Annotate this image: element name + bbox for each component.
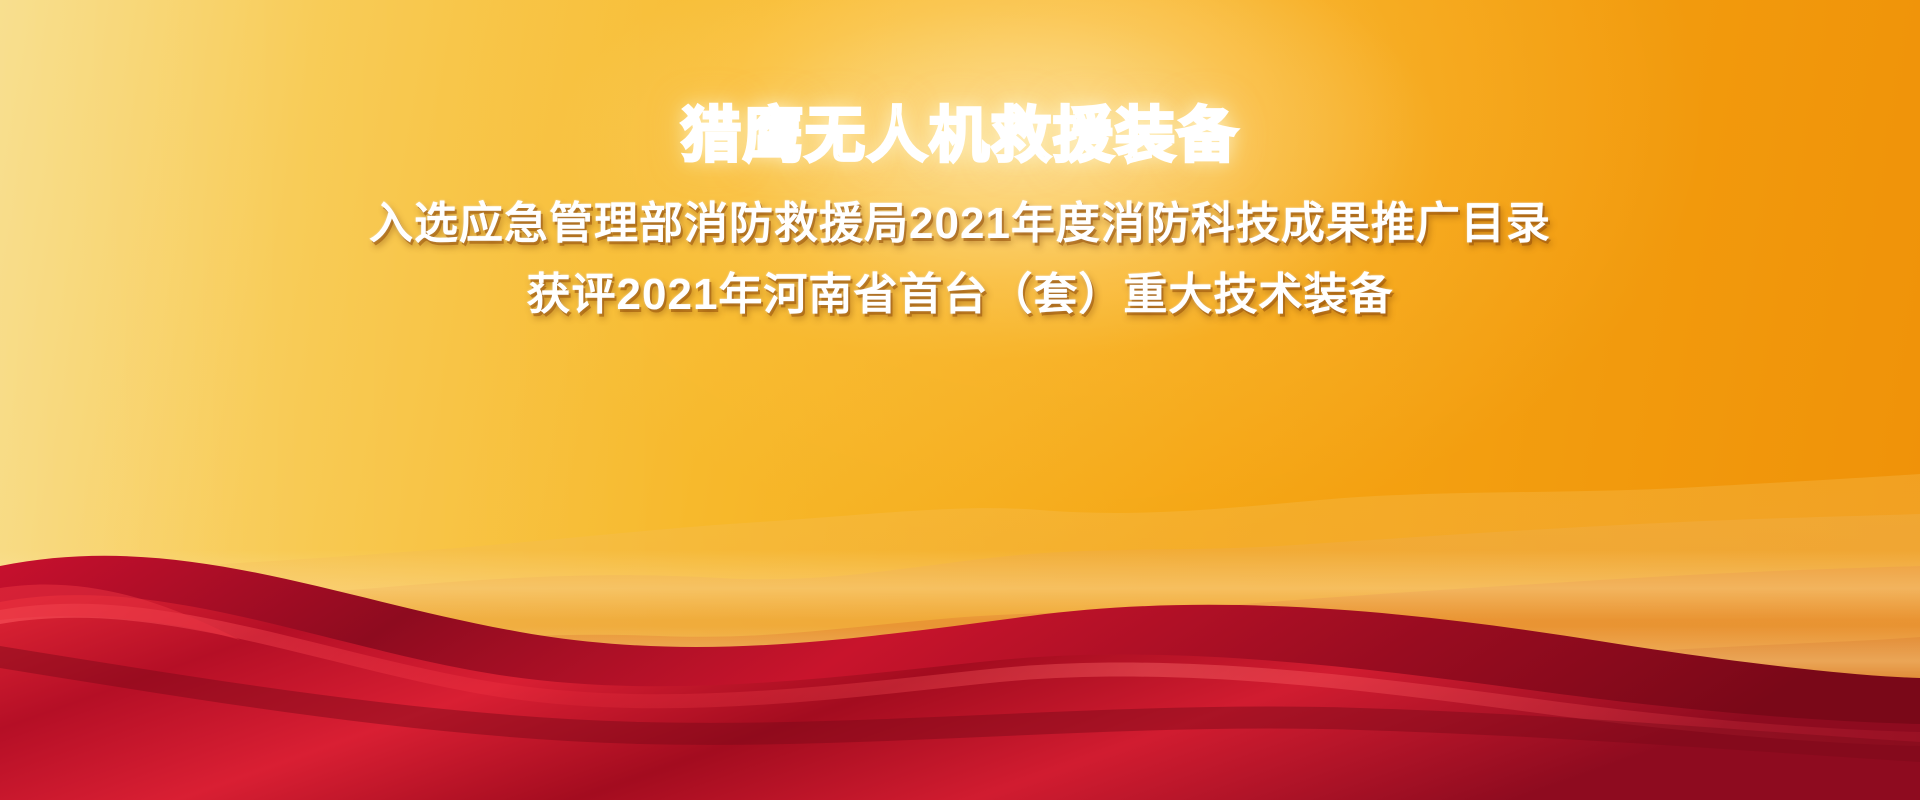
banner-text-content: 猎鹰无人机救援装备 入选应急管理部消防救援局2021年度消防科技成果推广目录 获…: [0, 0, 1920, 800]
banner-subtitle-line-1: 入选应急管理部消防救援局2021年度消防科技成果推广目录: [369, 195, 1551, 252]
banner-title: 猎鹰无人机救援装备: [681, 104, 1239, 167]
promo-banner: 猎鹰无人机救援装备 入选应急管理部消防救援局2021年度消防科技成果推广目录 获…: [0, 0, 1920, 800]
banner-subtitle-line-2: 获评2021年河南省首台（套）重大技术装备: [527, 266, 1394, 323]
